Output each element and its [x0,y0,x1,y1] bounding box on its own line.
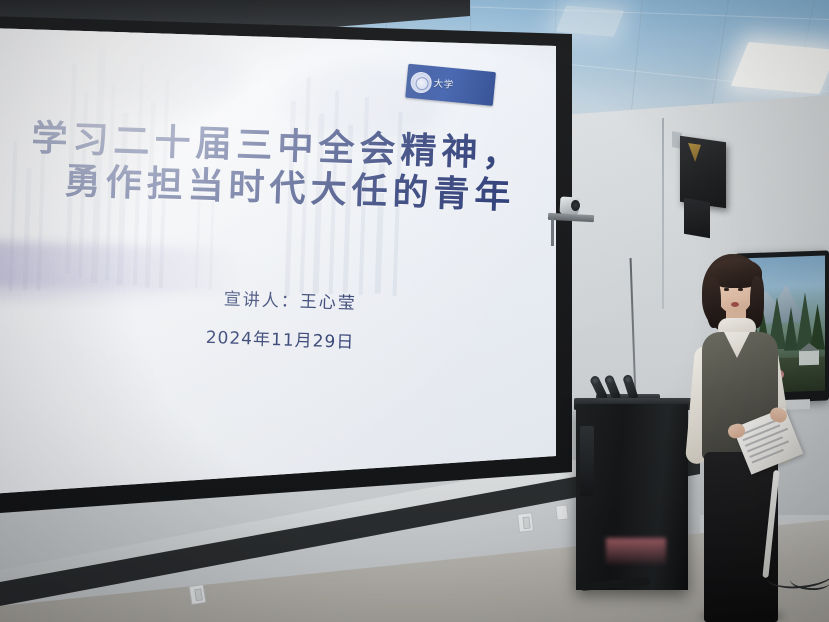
presenter-mouth [731,302,739,307]
camera-mount-post [551,218,554,246]
presenter-eye-right [738,288,743,291]
outlet-socket[interactable] [522,517,530,530]
camera-lens-icon [571,200,580,211]
slide-date: 2024年11月29日 [0,314,572,361]
tv-cabin-shape [799,350,819,366]
classroom-presentation-photo: 大学 学习二十届三中全会精神， 勇作担当时代大任的青年 宣讲人：王心莹 2024… [0,0,829,622]
ceiling-panel-light [731,42,829,94]
switch-toggle[interactable] [194,588,203,601]
slide-title: 学习二十届三中全会精神， 勇作担当时代大任的青年 [0,115,572,220]
presentation-slide: 大学 学习二十届三中全会精神， 勇作担当时代大任的青年 宣讲人：王心莹 2024… [0,0,572,514]
wall-outlet-plate[interactable] [517,512,534,532]
ceiling-panel-light-secondary [556,5,624,36]
presenter-hair-side-left [706,276,721,328]
rack-interior-glow [606,538,666,564]
projection-screen-surface[interactable]: 大学 学习二十届三中全会精神， 勇作担当时代大任的青年 宣讲人：王心莹 2024… [0,0,572,514]
wall-switch-plate[interactable] [189,584,207,605]
wall-speaker-lower-box [684,198,710,239]
wall-outlet-plate-secondary[interactable] [555,504,569,520]
presenter-eye-left [724,288,729,291]
rack-side-panel [580,426,594,496]
speaker-brand-mark [688,143,701,163]
